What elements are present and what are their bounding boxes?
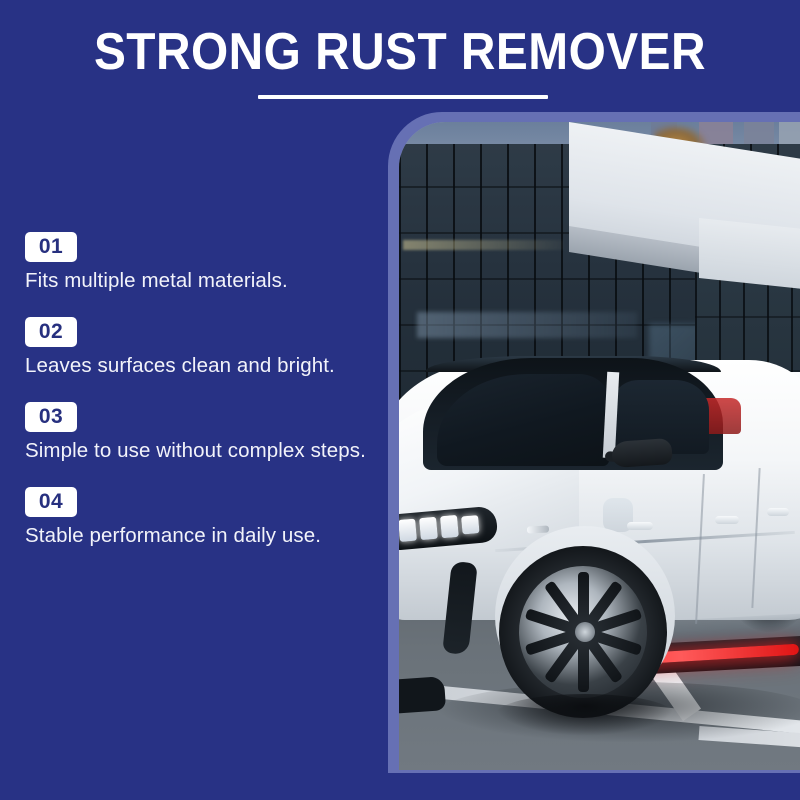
product-feature-poster: STRONG RUST REMOVER 01 Fits multiple met… (0, 0, 800, 800)
headlight-lamp (440, 515, 459, 538)
list-item: 03 Simple to use without complex steps. (25, 402, 375, 465)
feature-text: Simple to use without complex steps. (25, 437, 370, 465)
wheel-contact-shadow (495, 694, 675, 736)
door-handle (627, 522, 653, 530)
feature-text: Fits multiple metal materials. (25, 267, 370, 295)
wheel-hub-cap (575, 622, 595, 642)
door-handle (715, 516, 739, 524)
feature-number-badge: 03 (25, 402, 77, 432)
list-item: 01 Fits multiple metal materials. (25, 232, 375, 295)
list-item: 02 Leaves surfaces clean and bright. (25, 317, 375, 380)
list-item: 04 Stable performance in daily use. (25, 487, 375, 550)
feature-text: Leaves surfaces clean and bright. (25, 352, 370, 380)
photo-scene (399, 122, 800, 770)
side-mirror (611, 438, 673, 468)
title-underline-rule (258, 95, 548, 99)
page-title: STRONG RUST REMOVER (32, 26, 768, 78)
product-photo-frame (388, 112, 800, 773)
poster-header: STRONG RUST REMOVER (0, 0, 800, 112)
side-repeater-light (527, 525, 549, 533)
product-photo (399, 122, 800, 770)
feature-text: Stable performance in daily use. (25, 522, 370, 550)
door-handle (767, 508, 789, 516)
feature-number-badge: 02 (25, 317, 77, 347)
headlight-lamp (461, 515, 480, 534)
feature-number-badge: 01 (25, 232, 77, 262)
feature-list: 01 Fits multiple metal materials. 02 Lea… (25, 232, 375, 550)
headlight-lamp (399, 519, 417, 542)
headlight-lamp (419, 517, 438, 540)
feature-number-badge: 04 (25, 487, 77, 517)
lower-air-intake (399, 676, 446, 714)
car (399, 122, 800, 770)
